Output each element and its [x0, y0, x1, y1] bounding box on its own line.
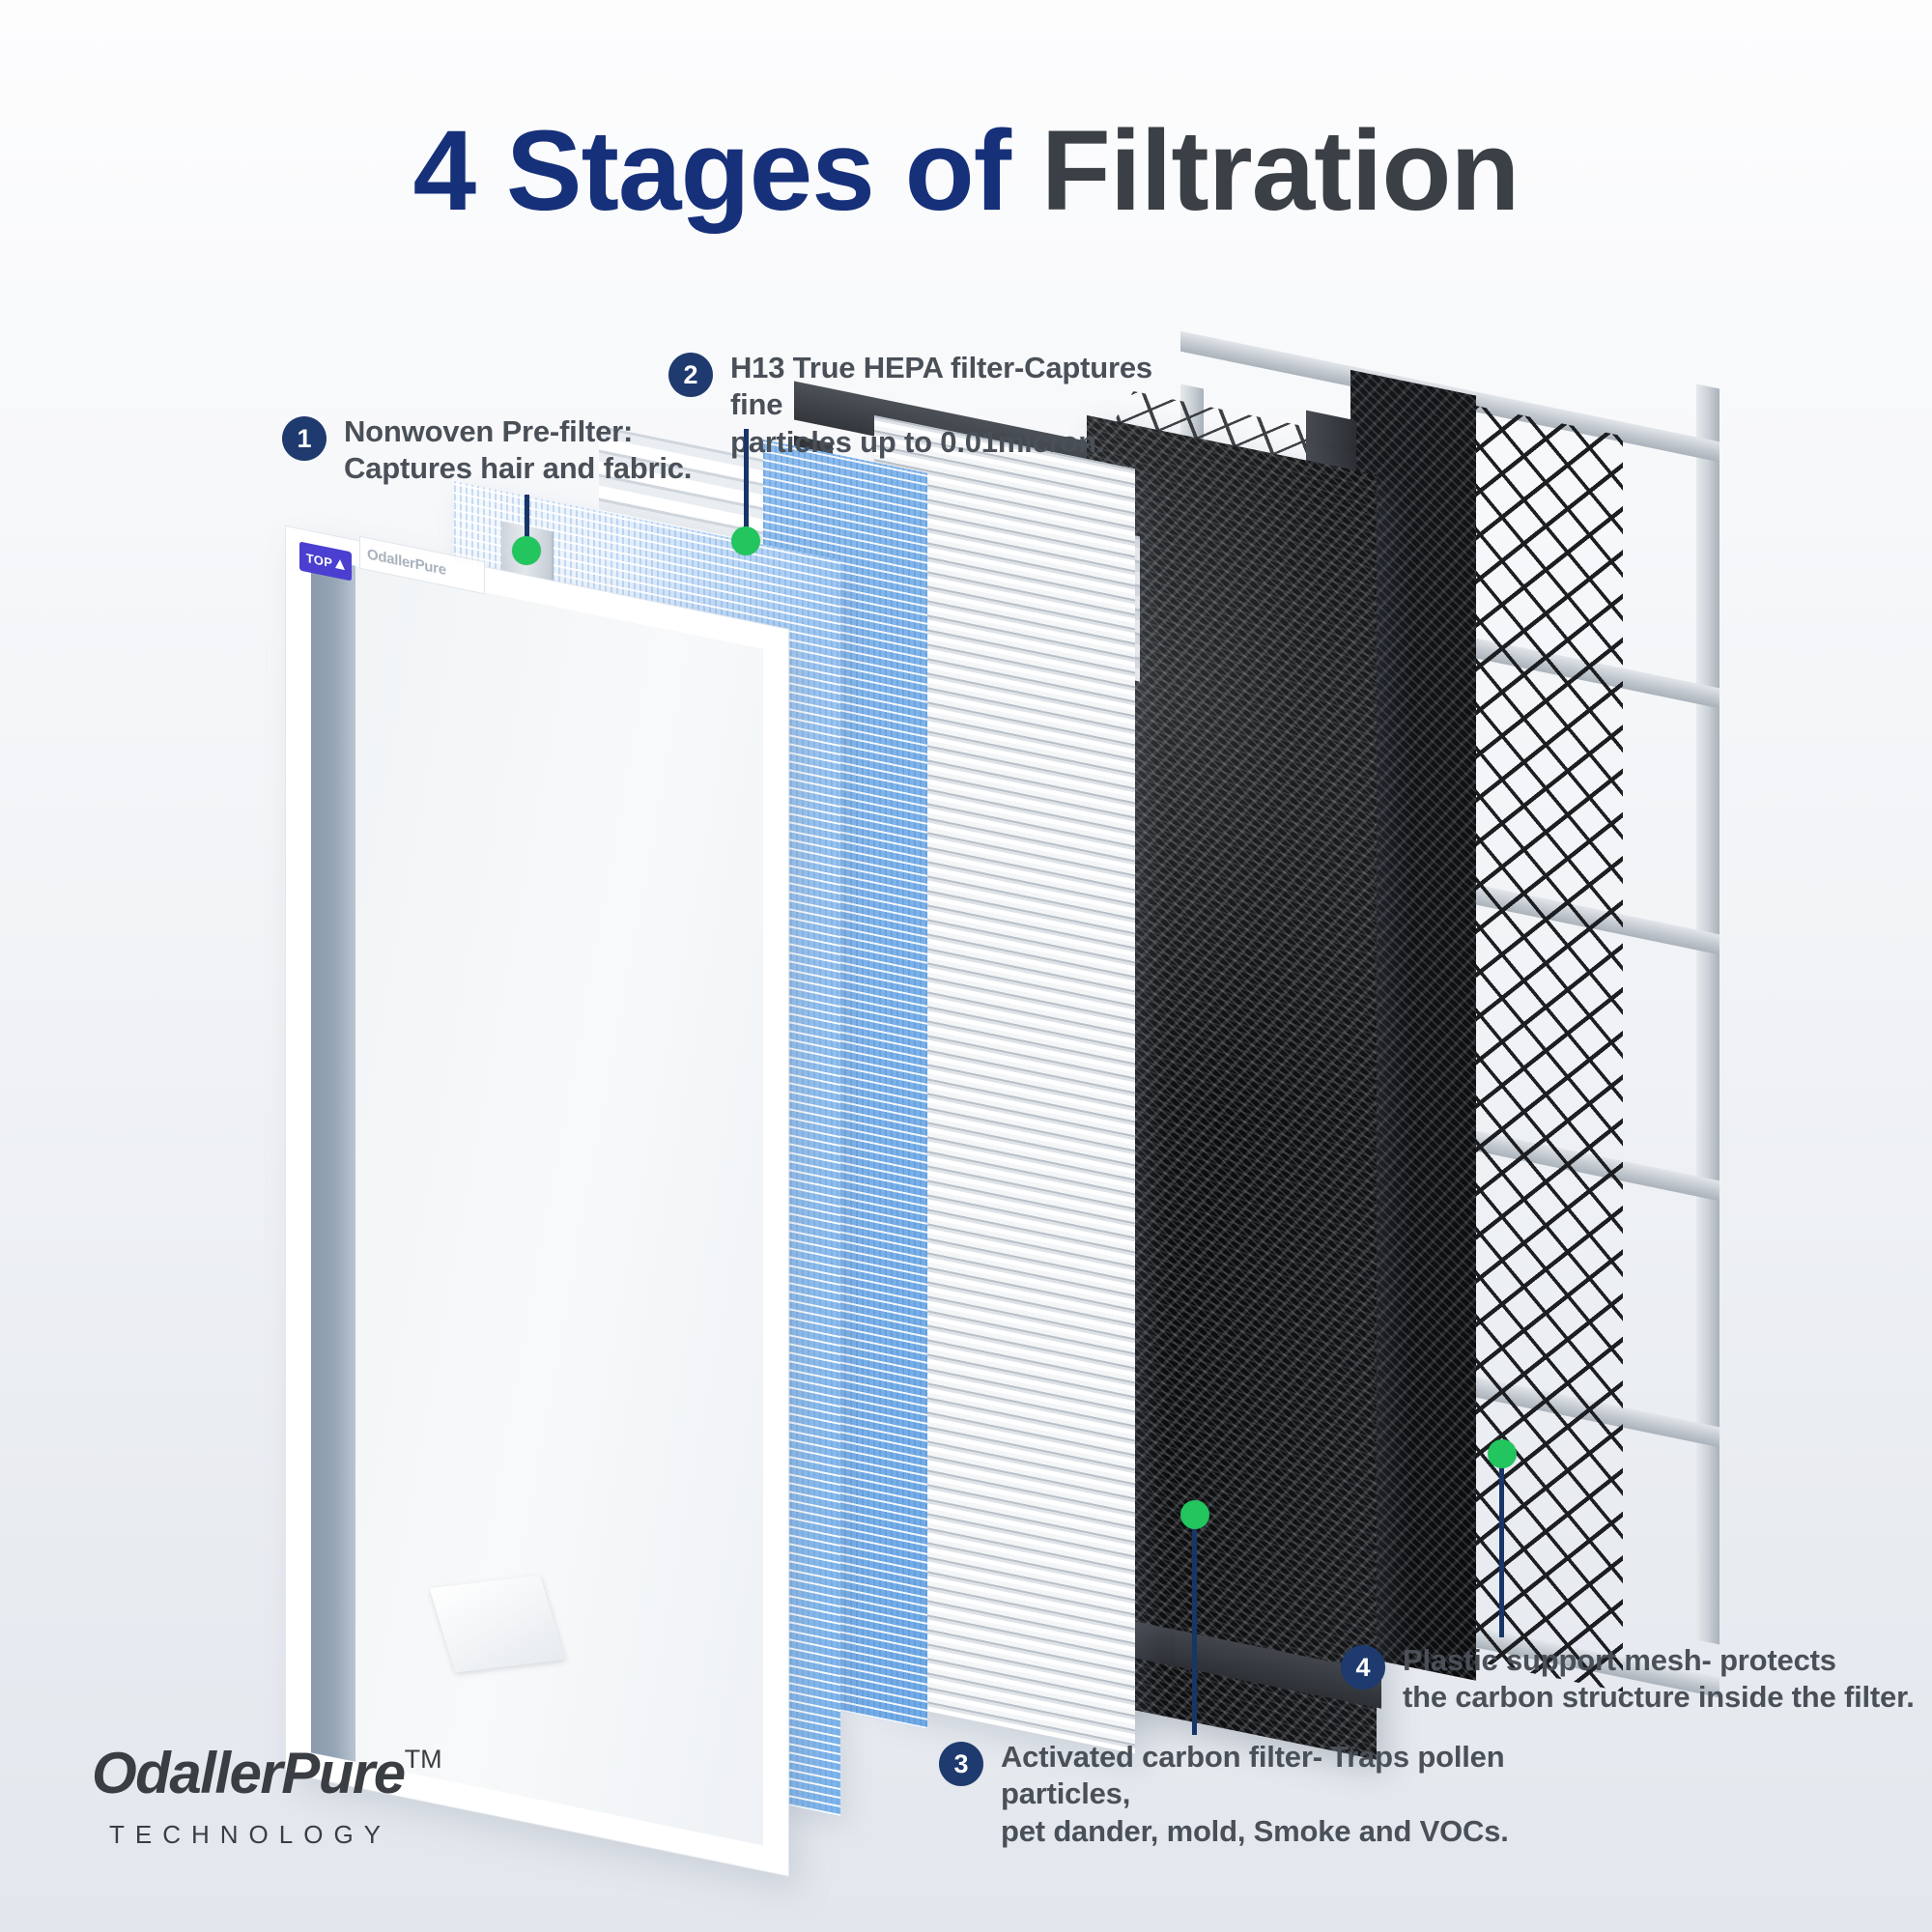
- trademark-icon: TM: [405, 1747, 442, 1773]
- callout-2-text: H13 True HEPA filter-Captures fine parti…: [730, 350, 1209, 461]
- up-arrow-icon: [335, 558, 345, 570]
- support-frame-post-right: [1696, 384, 1719, 1645]
- callout-3-marker-dot: [1180, 1500, 1209, 1529]
- brand-logo-name: OdallerPure: [92, 1745, 405, 1803]
- pre-filter-frame-inner-edge: [311, 556, 355, 1761]
- callout-4-badge: 4: [1341, 1645, 1385, 1690]
- callout-2-marker-dot: [731, 526, 760, 555]
- callout-1-leader-line: [525, 495, 529, 541]
- callout-4-leader-line: [1499, 1454, 1504, 1637]
- callout-1-text: Nonwoven Pre-filter: Captures hair and f…: [344, 413, 692, 488]
- pre-filter-white-frame: [286, 526, 788, 1876]
- callout-3-badge: 3: [939, 1742, 983, 1786]
- top-sticker-label: TOP: [306, 550, 332, 570]
- callout-3: 3 Activated carbon filter- Traps pollen …: [939, 1739, 1625, 1850]
- callout-1-marker-dot: [512, 536, 541, 565]
- callout-4-marker-dot: [1488, 1439, 1517, 1468]
- callout-3-text: Activated carbon filter- Traps pollen pa…: [1001, 1739, 1625, 1850]
- brand-logo: OdallerPure TM TECHNOLOGY: [92, 1745, 507, 1850]
- callout-2-leader-line: [744, 429, 749, 535]
- callout-4: 4 Plastic support mesh- protects the car…: [1341, 1642, 1920, 1717]
- callout-2-badge: 2: [668, 353, 713, 397]
- callout-2: 2 H13 True HEPA filter-Captures fine par…: [668, 350, 1209, 461]
- callout-4-text: Plastic support mesh- protects the carbo…: [1403, 1642, 1915, 1717]
- brand-logo-wordmark: OdallerPure TM: [92, 1745, 507, 1803]
- brand-logo-subtitle: TECHNOLOGY: [109, 1820, 507, 1850]
- callout-3-leader-line: [1192, 1515, 1197, 1735]
- callout-1-badge: 1: [282, 416, 327, 461]
